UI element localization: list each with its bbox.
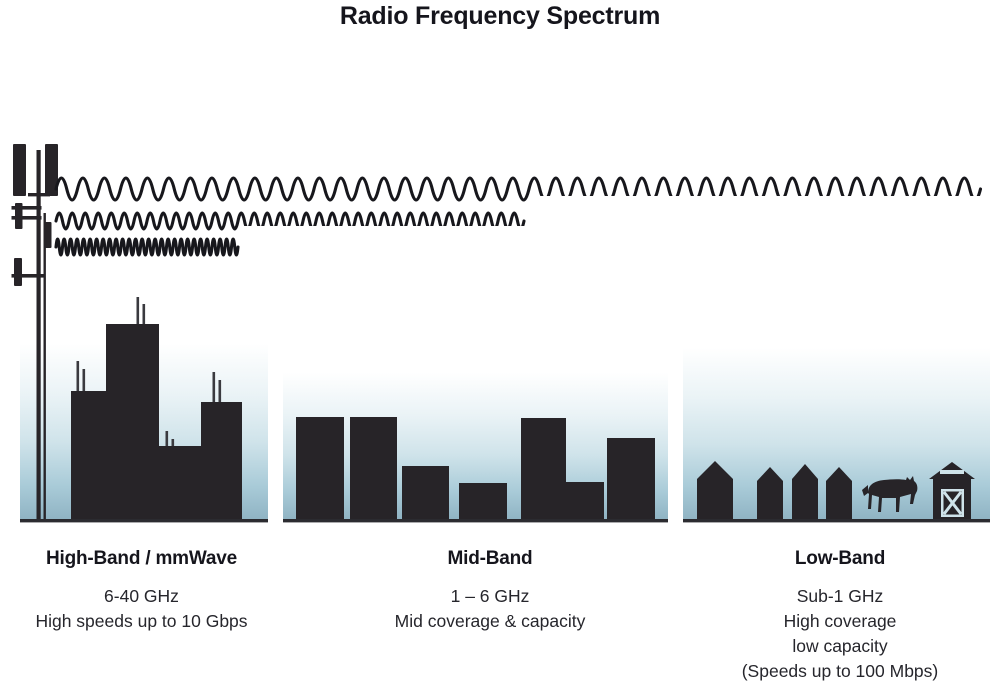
band-detail-mid-0: 1 – 6 GHz bbox=[340, 584, 640, 609]
house-icon bbox=[792, 464, 818, 521]
skyline-mid-band bbox=[296, 417, 655, 521]
ground-line-low bbox=[683, 519, 990, 522]
band-detail-low-3: (Speeds up to 100 Mbps) bbox=[690, 659, 990, 684]
cow-icon bbox=[862, 476, 917, 512]
caption-low-band: Low-Band Sub-1 GHz High coverage low cap… bbox=[690, 548, 990, 684]
caption-mid-band: Mid-Band 1 – 6 GHz Mid coverage & capaci… bbox=[340, 548, 640, 634]
band-heading-high: High-Band / mmWave bbox=[0, 548, 283, 570]
house-icon bbox=[757, 467, 783, 521]
band-heading-mid: Mid-Band bbox=[340, 548, 640, 570]
band-detail-high-1: High speeds up to 10 Gbps bbox=[0, 609, 283, 634]
scene-low-band bbox=[697, 461, 975, 521]
band-detail-low-2: low capacity bbox=[690, 634, 990, 659]
band-heading-low: Low-Band bbox=[690, 548, 990, 570]
band-detail-low-0: Sub-1 GHz bbox=[690, 584, 990, 609]
wave-high-frequency bbox=[56, 239, 238, 255]
cell-tower-icon bbox=[12, 144, 59, 522]
band-detail-mid-1: Mid coverage & capacity bbox=[340, 609, 640, 634]
caption-high-band: High-Band / mmWave 6-40 GHz High speeds … bbox=[0, 548, 283, 634]
ground-line-mid bbox=[283, 519, 668, 522]
band-detail-high-0: 6-40 GHz bbox=[0, 584, 283, 609]
house-icon bbox=[697, 461, 733, 521]
band-detail-low-1: High coverage bbox=[690, 609, 990, 634]
skyline-high-band bbox=[71, 297, 242, 521]
barn-icon bbox=[929, 462, 975, 521]
ground-line-high bbox=[20, 519, 268, 522]
house-icon bbox=[826, 467, 852, 521]
